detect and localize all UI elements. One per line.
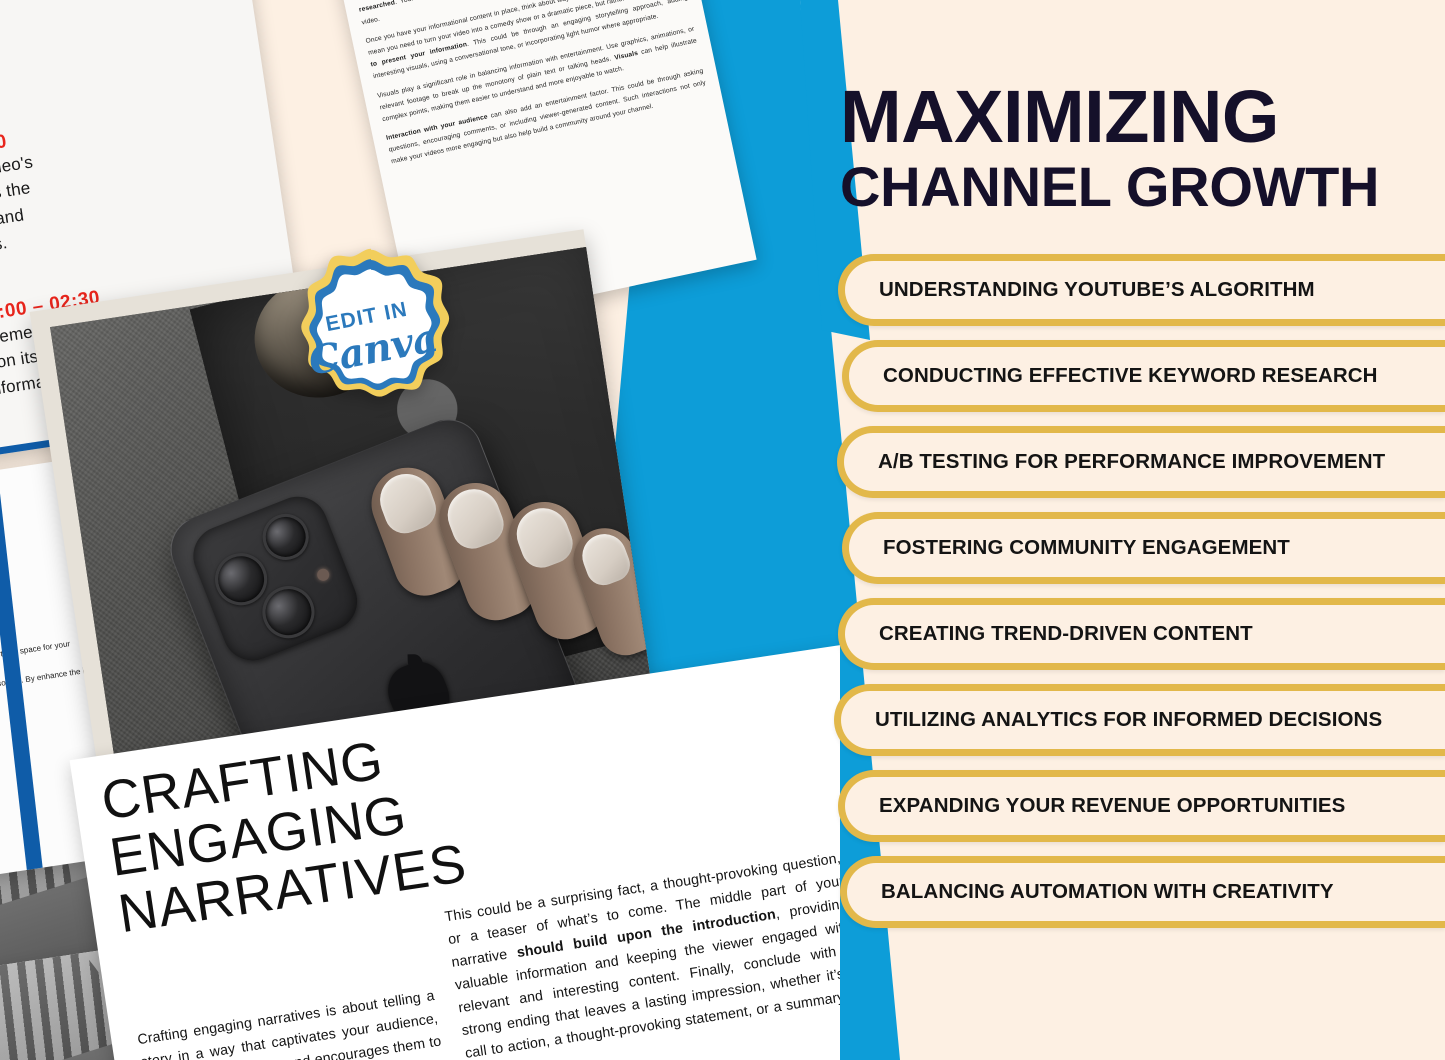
chapter-label: FOSTERING COMMUNITY ENGAGEMENT xyxy=(849,536,1290,560)
chapter-item-6[interactable]: UTILIZING ANALYTICS FOR INFORMED DECISIO… xyxy=(834,684,1445,756)
chapter-item-7[interactable]: EXPANDING YOUR REVENUE OPPORTUNITIES xyxy=(838,770,1445,842)
mockup-collage: :25 that showcasesveet, making sure it10… xyxy=(0,0,840,1060)
chapter-item-4[interactable]: FOSTERING COMMUNITY ENGAGEMENT xyxy=(842,512,1445,584)
poster-canvas: :25 that showcasesveet, making sure it10… xyxy=(0,0,1445,1060)
camera-lens-icon xyxy=(256,507,316,567)
timeline-text-0: that showcasesveet, making sure it10 sec… xyxy=(0,0,244,109)
chapter-label: EXPANDING YOUR REVENUE OPPORTUNITIES xyxy=(845,794,1345,818)
chapter-list: UNDERSTANDING YOUTUBE’S ALGORITHM CONDUC… xyxy=(820,254,1445,942)
chapter-label: CREATING TREND-DRIVEN CONTENT xyxy=(845,622,1253,646)
page-title: MAXIMIZING CHANNEL GROWTH xyxy=(840,82,1440,215)
right-panel: MAXIMIZING CHANNEL GROWTH UNDERSTANDING … xyxy=(820,0,1445,1060)
chapter-item-5[interactable]: CREATING TREND-DRIVEN CONTENT xyxy=(838,598,1445,670)
chapter-label: UTILIZING ANALYTICS FOR INFORMED DECISIO… xyxy=(841,708,1382,732)
camera-bump xyxy=(184,488,366,670)
edit-in-canva-badge[interactable]: EDIT IN Canva xyxy=(278,246,464,432)
chapter-item-2[interactable]: CONDUCTING EFFECTIVE KEYWORD RESEARCH xyxy=(842,340,1445,412)
flash-icon xyxy=(315,567,331,583)
chapter-label: UNDERSTANDING YOUTUBE’S ALGORITHM xyxy=(845,278,1315,302)
title-line-1: MAXIMIZING xyxy=(840,82,1440,152)
article-col-1: Crafting engaging narratives is about te… xyxy=(136,985,474,1060)
chapter-item-3[interactable]: A/B TESTING FOR PERFORMANCE IMPROVEMENT xyxy=(837,426,1445,498)
chapter-item-8[interactable]: BALANCING AUTOMATION WITH CREATIVITY xyxy=(840,856,1445,928)
chapter-label: A/B TESTING FOR PERFORMANCE IMPROVEMENT xyxy=(844,450,1385,474)
badge-scallop-shape xyxy=(278,246,464,432)
chapter-item-1[interactable]: UNDERSTANDING YOUTUBE’S ALGORITHM xyxy=(838,254,1445,326)
chapter-label: CONDUCTING EFFECTIVE KEYWORD RESEARCH xyxy=(849,364,1378,388)
chapter-label: BALANCING AUTOMATION WITH CREATIVITY xyxy=(847,880,1334,904)
title-line-2: CHANNEL GROWTH xyxy=(840,158,1440,215)
